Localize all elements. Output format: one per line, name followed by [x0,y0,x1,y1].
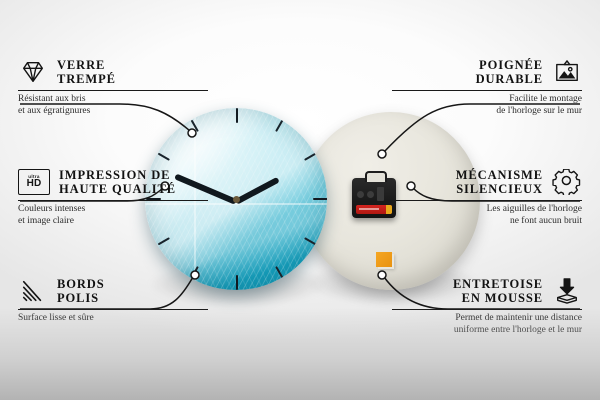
callout-title: BORDSPOLIS [57,277,105,305]
feature-callout-impression[interactable]: ultra HD IMPRESSION DEHAUTE QUALITÉ Coul… [18,168,208,227]
callout-header: ultra HD IMPRESSION DEHAUTE QUALITÉ [18,168,208,196]
callout-header: MÉCANISMESILENCIEUX [392,168,582,196]
press-down-icon [552,278,582,304]
clock-tick [236,108,238,199]
hanger-tab [365,171,387,182]
mechanism-dial-right [367,191,374,198]
gear-icon [552,169,582,195]
aa-battery [356,205,392,214]
infographic-canvas: VERRETREMPÉ Résistant aux bris et aux ég… [0,0,600,400]
callout-subtitle: Résistant aux bris et aux égratignures [18,94,208,117]
feature-callout-bords-polis[interactable]: BORDSPOLIS Surface lisse et sûre [18,277,208,325]
clock-tick [237,198,327,200]
battery-stripe [359,208,379,210]
callout-header: POIGNÉEDURABLE [392,58,582,86]
mechanism-slot [377,187,384,201]
callout-subtitle: Surface lisse et sûre [18,313,208,325]
callout-subtitle: Permet de maintenir une distance uniform… [392,313,582,336]
ultra-hd-icon: ultra HD [18,169,50,195]
ultra-hd-icon-main-label: HD [27,179,42,189]
callout-subtitle: Couleurs intenses et image claire [18,204,208,227]
callout-rule [18,200,208,201]
picture-frame-icon [552,59,582,85]
callout-rule [18,90,208,91]
diamond-icon [18,59,48,85]
mechanism-dial-left [357,191,364,198]
clock-hand-cap [233,196,240,203]
callout-title: ENTRETOISEEN MOUSSE [453,277,543,305]
clock-movement-mechanism [352,178,396,218]
feature-callout-verre-trempe[interactable]: VERRETREMPÉ Résistant aux bris et aux ég… [18,58,208,117]
foam-spacer-pad [376,252,392,267]
feature-callout-poignee[interactable]: POIGNÉEDURABLE Facilite le montage de l'… [392,58,582,117]
callout-rule [392,90,582,91]
callout-subtitle: Facilite le montage de l'horloge sur le … [392,94,582,117]
callout-rule [18,309,208,310]
callout-subtitle: Les aiguilles de l'horloge ne font aucun… [392,204,582,227]
feature-callout-entretoise[interactable]: ENTRETOISEEN MOUSSE Permet de maintenir … [392,277,582,336]
callout-header: VERRETREMPÉ [18,58,208,86]
callout-header: BORDSPOLIS [18,277,208,305]
callout-title: IMPRESSION DEHAUTE QUALITÉ [59,168,176,196]
callout-title: POIGNÉEDURABLE [476,58,543,86]
callout-rule [392,309,582,310]
clock-tick [236,199,238,290]
callout-rule [392,200,582,201]
feature-callout-mecanisme[interactable]: MÉCANISMESILENCIEUX Les aiguilles de l'h… [392,168,582,227]
callout-title: VERRETREMPÉ [57,58,116,86]
callout-title: MÉCANISMESILENCIEUX [456,168,543,196]
callout-header: ENTRETOISEEN MOUSSE [392,277,582,305]
diagonal-lines-icon [18,278,48,304]
